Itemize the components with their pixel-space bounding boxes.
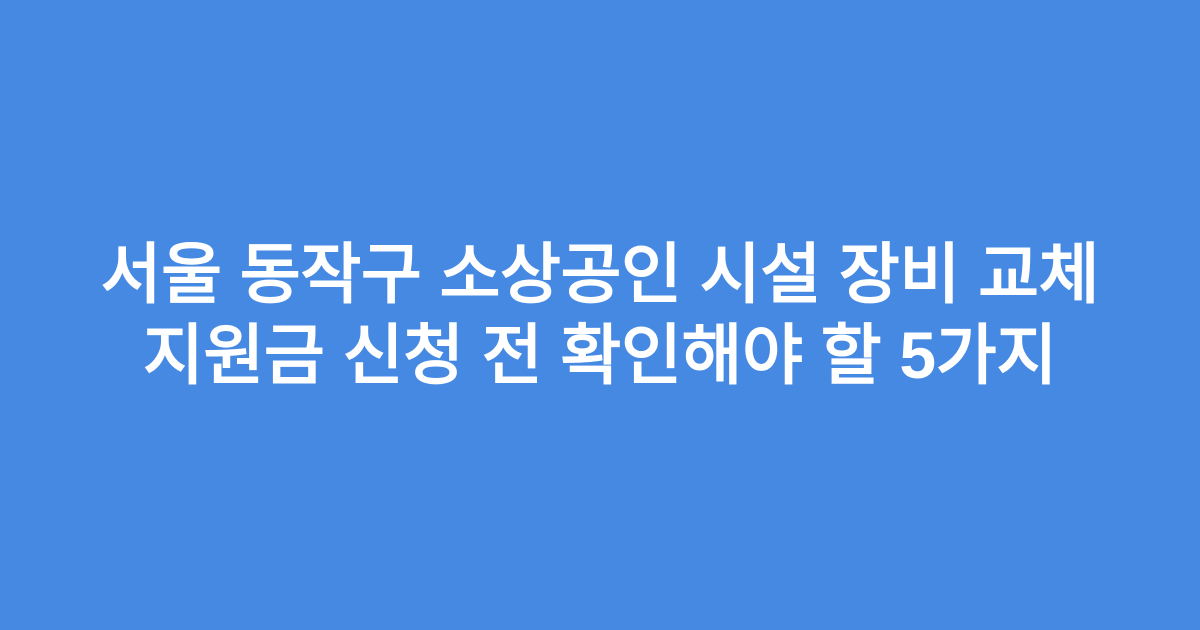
headline-title: 서울 동작구 소상공인 시설 장비 교체 지원금 신청 전 확인해야 할 5가지 <box>50 234 1150 396</box>
headline-line-1: 서울 동작구 소상공인 시설 장비 교체 <box>50 234 1150 315</box>
thumbnail-card: 서울 동작구 소상공인 시설 장비 교체 지원금 신청 전 확인해야 할 5가지 <box>0 0 1200 630</box>
headline-line-2: 지원금 신청 전 확인해야 할 5가지 <box>50 315 1150 396</box>
